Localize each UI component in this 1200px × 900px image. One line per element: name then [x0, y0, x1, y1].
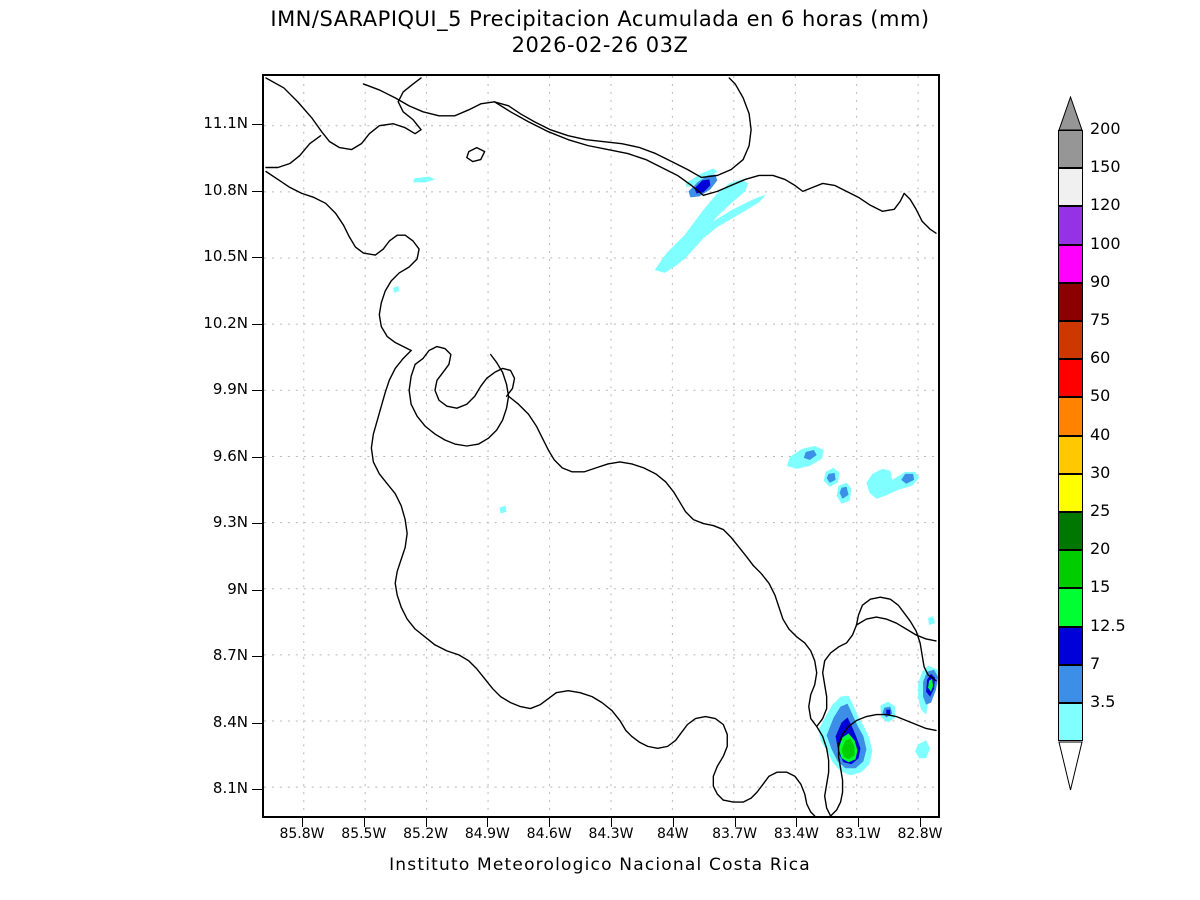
y-tickmark — [252, 257, 262, 258]
x-tickmark — [673, 818, 674, 827]
x-tick-label: 83.1W — [823, 827, 893, 841]
map-plot-area[interactable] — [262, 74, 940, 818]
precip-cell-cyan — [928, 616, 935, 625]
x-tick-label: 84.9W — [452, 827, 522, 841]
colorbar-tick-label: 150 — [1090, 159, 1121, 175]
colorbar-tick-label: 200 — [1090, 121, 1121, 137]
y-tick-label: 8.7N — [178, 648, 248, 663]
colorbar[interactable]: 20015012010090756050403025201512.573.5 — [1050, 96, 1200, 816]
colorbar-segment[interactable] — [1058, 588, 1083, 626]
colorbar-segment[interactable] — [1058, 283, 1083, 321]
x-tick-label: 85.8W — [267, 827, 337, 841]
colorbar-segment[interactable] — [1058, 321, 1083, 359]
colorbar-tick-label: 20 — [1090, 541, 1110, 557]
y-tick-label: 11.1N — [178, 116, 248, 131]
x-tickmark — [364, 818, 365, 827]
colorbar-segment[interactable] — [1058, 206, 1083, 244]
colorbar-tick-label: 12.5 — [1090, 618, 1126, 634]
y-tick-label: 8.4N — [178, 715, 248, 730]
colorbar-segment[interactable] — [1058, 512, 1083, 550]
colorbar-segment[interactable] — [1058, 130, 1083, 168]
y-tickmark — [252, 656, 262, 657]
colorbar-tick-label: 60 — [1090, 350, 1110, 366]
y-tickmark — [252, 191, 262, 192]
x-tickmark — [487, 818, 488, 827]
precipitation-map — [264, 76, 938, 816]
footer-attribution: Instituto Meteorologico Nacional Costa R… — [0, 855, 1200, 875]
colorbar-over-arrow — [1058, 96, 1083, 131]
x-tick-label: 84.3W — [576, 827, 646, 841]
colorbar-tick-label: 7 — [1090, 656, 1100, 672]
y-tick-label: 10.8N — [178, 183, 248, 198]
colorbar-segment[interactable] — [1058, 436, 1083, 474]
colorbar-segment[interactable] — [1058, 245, 1083, 283]
y-tickmark — [252, 390, 262, 391]
x-tick-label: 82.8W — [885, 827, 955, 841]
precip-cell-cyan — [393, 286, 399, 293]
y-tick-label: 9.6N — [178, 449, 248, 464]
colorbar-tick-label: 30 — [1090, 465, 1110, 481]
colorbar-tick-label: 3.5 — [1090, 694, 1115, 710]
colorbar-segment[interactable] — [1058, 627, 1083, 665]
colorbar-segment[interactable] — [1058, 703, 1083, 741]
y-tick-label: 8.1N — [178, 781, 248, 796]
x-tickmark — [920, 818, 921, 827]
colorbar-segment[interactable] — [1058, 397, 1083, 435]
x-tickmark — [611, 818, 612, 827]
y-tickmark — [252, 457, 262, 458]
colorbar-segment[interactable] — [1058, 665, 1083, 703]
colorbar-tick-label: 40 — [1090, 427, 1110, 443]
colorbar-segment[interactable] — [1058, 359, 1083, 397]
y-tick-label: 10.5N — [178, 249, 248, 264]
y-tickmark — [252, 789, 262, 790]
x-tick-label: 84W — [638, 827, 708, 841]
colorbar-tick-label: 90 — [1090, 274, 1110, 290]
x-tickmark — [426, 818, 427, 827]
colorbar-tick-label: 100 — [1090, 236, 1121, 252]
x-tick-label: 83.7W — [700, 827, 770, 841]
colorbar-tick-label: 120 — [1090, 197, 1121, 213]
y-tickmark — [252, 324, 262, 325]
y-tickmark — [252, 523, 262, 524]
page-subtitle: 2026-02-26 03Z — [0, 32, 1200, 58]
precip-cell-cyan — [413, 176, 435, 182]
precip-cell-cyan — [500, 506, 507, 514]
y-tick-label: 9.3N — [178, 515, 248, 530]
x-tickmark — [549, 818, 550, 827]
colorbar-segment[interactable] — [1058, 550, 1083, 588]
x-tickmark — [302, 818, 303, 827]
colorbar-tick-label: 15 — [1090, 579, 1110, 595]
colorbar-segment[interactable] — [1058, 168, 1083, 206]
y-tick-label: 10.2N — [178, 316, 248, 331]
y-tick-label: 9N — [178, 582, 248, 597]
x-tick-label: 83.4W — [761, 827, 831, 841]
precip-cell-cyan — [866, 469, 919, 499]
x-tickmark — [858, 818, 859, 827]
y-tickmark — [252, 124, 262, 125]
y-tickmark — [252, 590, 262, 591]
chart-title-block: IMN/SARAPIQUI_5 Precipitacion Acumulada … — [0, 6, 1200, 58]
colorbar-tick-label: 25 — [1090, 503, 1110, 519]
page-title: IMN/SARAPIQUI_5 Precipitacion Acumulada … — [0, 6, 1200, 32]
x-tick-label: 85.2W — [391, 827, 461, 841]
precip-cell-cyan — [915, 740, 930, 758]
colorbar-tick-label: 50 — [1090, 388, 1110, 404]
colorbar-tick-label: 75 — [1090, 312, 1110, 328]
x-tickmark — [735, 818, 736, 827]
y-tickmark — [252, 723, 262, 724]
x-tickmark — [796, 818, 797, 827]
colorbar-under-arrow — [1058, 741, 1083, 791]
x-tick-label: 85.5W — [329, 827, 399, 841]
x-tick-label: 84.6W — [514, 827, 584, 841]
colorbar-segment[interactable] — [1058, 474, 1083, 512]
y-tick-label: 9.9N — [178, 382, 248, 397]
